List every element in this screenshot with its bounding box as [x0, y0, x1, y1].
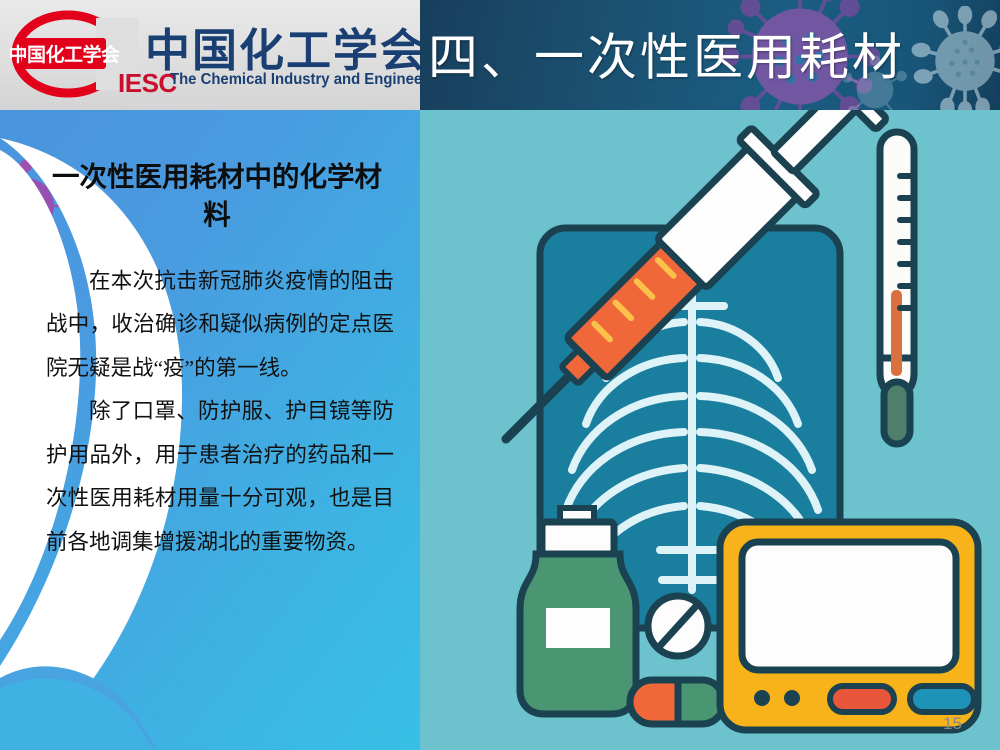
- paragraph-2: 除了口罩、防护服、护目镜等防护用品外，用于患者治疗的药品和一次性医用耗材用量十分…: [46, 390, 394, 564]
- capsule-pill-icon: [630, 680, 724, 724]
- illustration-graphic: [420, 110, 1000, 750]
- thermometer-icon: [880, 132, 914, 444]
- panel-heading: 一次性医用耗材中的化学材料: [52, 158, 382, 234]
- slide: 中国化工学会 中国化工学会 IESC The Chemical Industry…: [0, 0, 1000, 750]
- header-logo-area: 中国化工学会 中国化工学会 IESC The Chemical Industry…: [0, 0, 420, 110]
- vital-signs-monitor-icon: [720, 522, 978, 730]
- left-text-panel: 一次性医用耗材中的化学材料 在本次抗击新冠肺炎疫情的阻击战中，收治确诊和疑似病例…: [0, 110, 420, 750]
- svg-text:中国化工学会: 中国化工学会: [8, 43, 120, 66]
- logo-org-name-en: The Chemical Industry and Engineering So…: [170, 71, 420, 89]
- page-title: 四、一次性医用耗材: [428, 18, 905, 90]
- virus-icon: [910, 6, 1000, 110]
- panel-body-text: 在本次抗击新冠肺炎疫情的阻击战中，收治确诊和疑似病例的定点医院无疑是战“疫”的第…: [46, 260, 394, 564]
- medical-supplies-illustration: [420, 110, 1000, 750]
- logo-org-name-cn: 中国化工学会: [145, 14, 420, 79]
- page-number: 15: [943, 714, 962, 734]
- logo-org-abbr: IESC: [118, 68, 177, 99]
- paragraph-1: 在本次抗击新冠肺炎疫情的阻击战中，收治确诊和疑似病例的定点医院无疑是战“疫”的第…: [46, 260, 394, 390]
- round-pill-icon: [648, 596, 708, 656]
- header-title-bar: 四、一次性医用耗材: [420, 0, 1000, 110]
